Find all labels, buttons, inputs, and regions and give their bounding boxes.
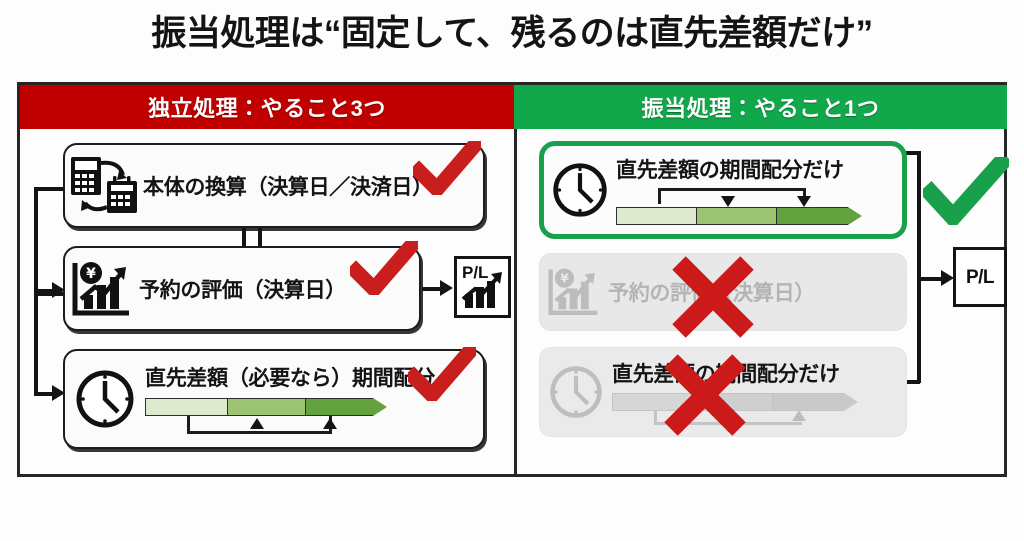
connector-left-h3 (34, 292, 64, 296)
connector-left-v1 (34, 187, 38, 292)
column-header-allocation: 振当処理：やること1つ (514, 85, 1007, 129)
timeline-arrow-tip (848, 207, 862, 225)
pl-label: P/L (966, 268, 994, 287)
timeline-bracket-h (658, 188, 806, 191)
clock-icon (540, 347, 612, 437)
timeline-bracket-h (654, 422, 802, 425)
yen-bar-chart-icon: ¥ (540, 253, 608, 331)
task-card-chokusen-disabled: 直先差額の期間配分だけ (539, 347, 907, 437)
slide-canvas: 振当処理は“固定して、残るのは直先差額だけ” 独立処理：やること3つ 振当処理：… (0, 0, 1024, 541)
task-label: 直先差額の期間配分だけ (612, 358, 860, 388)
timeline-segment-3 (776, 207, 848, 225)
timeline-down-arrow-2 (797, 196, 811, 207)
connector-pl-arrow-left (440, 280, 453, 296)
task-label: 予約の評価（決算日） (139, 274, 346, 304)
yen-bar-chart-icon: ¥ (65, 246, 139, 331)
connector-right-v (917, 151, 921, 383)
task-card-chokusen-sagaku[interactable]: 直先差額（必要なら）期間配分 (63, 349, 485, 449)
timeline-segment-1 (612, 393, 692, 411)
timeline-segment-2 (696, 207, 776, 225)
pl-box-allocation[interactable]: P/L (953, 247, 1007, 307)
timeline-up-arrow-1 (792, 410, 806, 421)
task-card-chokusen-only[interactable]: 直先差額の期間配分だけ (539, 141, 907, 239)
connector-left-h4 (34, 392, 54, 396)
timeline-bracket-h (187, 431, 332, 434)
timeline-allocation-bar (145, 398, 395, 436)
timeline-segment-1 (145, 398, 227, 416)
clock-icon (65, 349, 145, 449)
task-card-honntai-kansan[interactable]: 本体の換算（決算日／決済日） (63, 143, 485, 228)
task-card-yoyaku-hyouka-disabled: ¥ 予約の評価（決算日） (539, 253, 907, 331)
timeline-segment-3 (772, 393, 844, 411)
calculator-calendar-exchange-icon (65, 143, 143, 228)
timeline-allocation-bar-grey (612, 393, 860, 427)
timeline-down-arrow-1 (721, 196, 735, 207)
connector-left-h1 (34, 187, 64, 191)
clock-icon (544, 145, 616, 235)
column-body-independent: 本体の換算（決算日／決済日） ¥ (20, 129, 514, 477)
comparison-table: 独立処理：やること3つ 振当処理：やること1つ (17, 82, 1007, 477)
task-label: 予約の評価（決算日） (608, 277, 815, 307)
pl-box-independent[interactable]: P/L (454, 256, 511, 318)
page-title: 振当処理は“固定して、残るのは直先差額だけ” (0, 6, 1024, 62)
task-card-yoyaku-hyouka[interactable]: ¥ 予約の評価（決算日） (63, 246, 421, 331)
timeline-segment-2 (227, 398, 305, 416)
timeline-up-arrow-2 (323, 418, 337, 429)
column-header-independent: 独立処理：やること3つ (20, 85, 514, 129)
pl-chart-icon: P/L (459, 261, 507, 313)
pl-label: P/L (462, 263, 488, 282)
task-label: 直先差額の期間配分だけ (616, 154, 864, 184)
connector-left-v2 (34, 292, 38, 395)
timeline-allocation-bar (616, 188, 864, 226)
svg-text:¥: ¥ (86, 266, 96, 282)
column-body-allocation: 直先差額の期間配分だけ (517, 129, 1007, 477)
timeline-segment-2 (692, 393, 772, 411)
timeline-up-arrow-1 (250, 418, 264, 429)
svg-text:¥: ¥ (560, 271, 569, 285)
task-label: 直先差額（必要なら）期間配分 (145, 362, 435, 392)
task-label: 本体の換算（決算日／決済日） (143, 171, 433, 201)
timeline-arrow-tip (373, 398, 387, 416)
timeline-arrow-tip (844, 393, 858, 411)
timeline-segment-1 (616, 207, 696, 225)
timeline-segment-3 (305, 398, 373, 416)
check-green-icon (923, 157, 1009, 225)
